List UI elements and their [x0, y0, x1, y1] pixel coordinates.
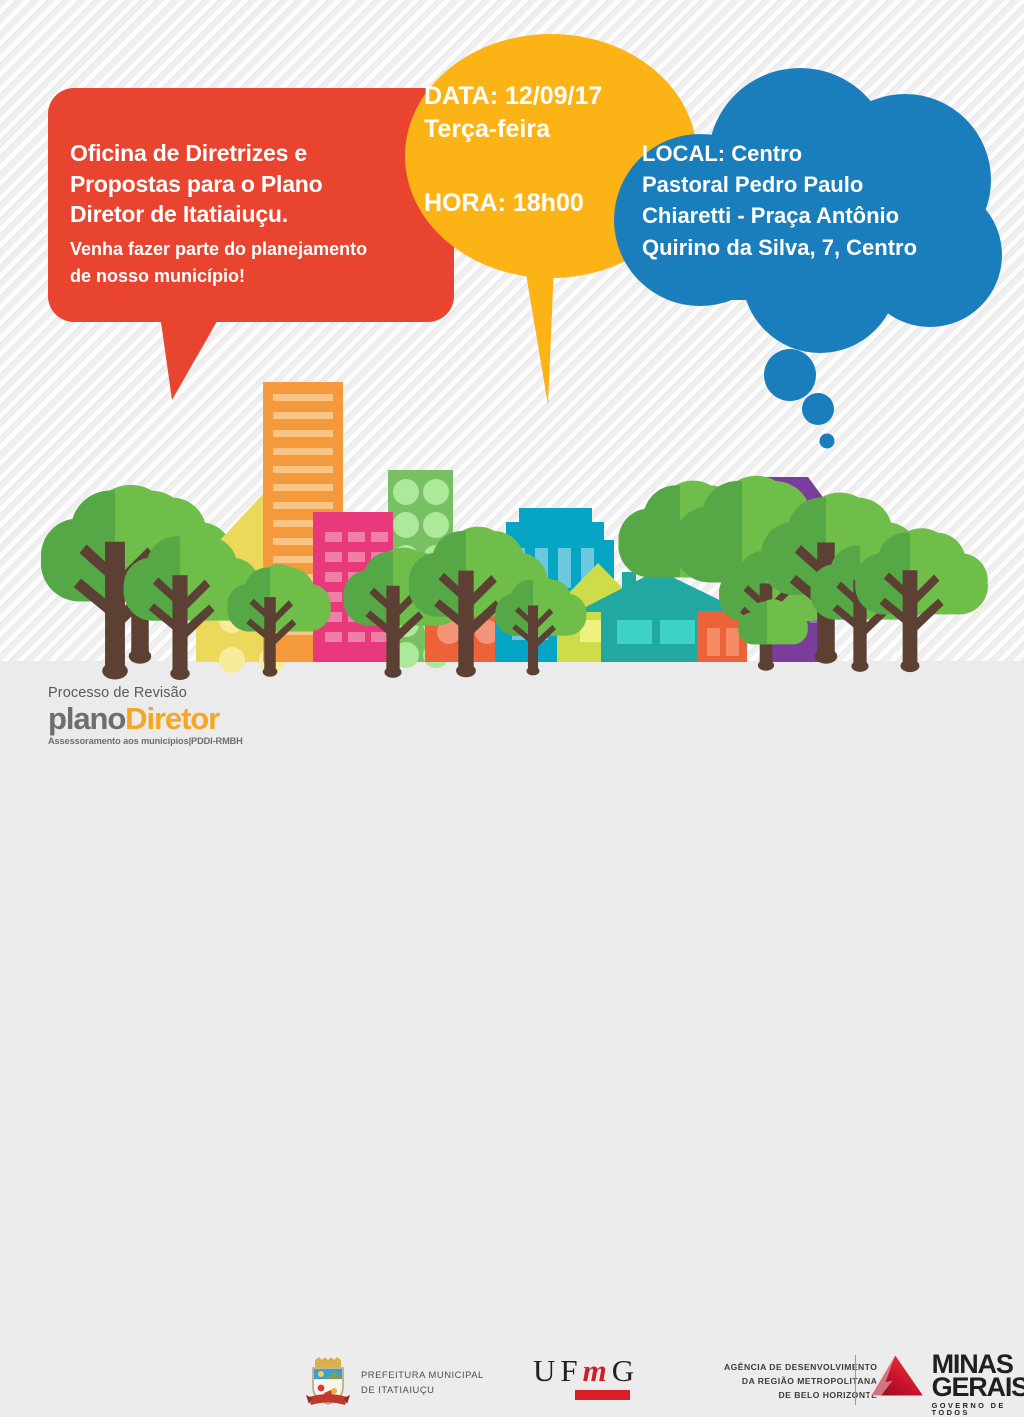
minas-gerais-slogan: GOVERNO DE TODOS: [932, 1403, 1024, 1416]
red-bubble-text: Oficina de Diretrizes e Propostas para o…: [70, 138, 450, 290]
footer-logos: Processo de Revisão planoDiretor Assesso…: [0, 661, 1024, 768]
ufmg-letter-g: G: [612, 1353, 639, 1388]
yellow-bubble-text: DATA: 12/09/17 Terça-feira HORA: 18h00: [424, 80, 639, 220]
plano-diretor-word-plano: plano: [48, 701, 125, 736]
minas-gerais-triangle-icon: [866, 1351, 925, 1401]
event-location-line-3: Chiaretti - Praça Antônio: [642, 200, 1002, 231]
red-headline-line-3: Diretor de Itatiaiuçu.: [70, 199, 450, 230]
plano-diretor-logo: Processo de Revisão planoDiretor Assesso…: [48, 685, 243, 746]
ufmg-letter-f: F: [560, 1353, 582, 1388]
event-time: HORA: 18h00: [424, 187, 639, 220]
event-location-line-4: Quirino da Silva, 7, Centro: [642, 232, 1002, 263]
prefeitura-logo: PREFEITURA MUNICIPAL DE ITATIAIUÇU: [305, 1357, 484, 1409]
footer-divider: [855, 1355, 856, 1405]
event-location-line-2: Pastoral Pedro Paulo: [642, 169, 1002, 200]
minas-gerais-word-2: GERAIS: [932, 1376, 1024, 1399]
red-subline-line-1: Venha fazer parte do planejamento: [70, 236, 450, 263]
ufmg-logo: UFmG: [533, 1355, 639, 1400]
ufmg-red-bar: [575, 1390, 630, 1400]
plano-diretor-tagline: Processo de Revisão: [48, 685, 243, 701]
prefeitura-line-1: PREFEITURA MUNICIPAL: [361, 1368, 484, 1383]
prefeitura-line-2: DE ITATIAIUÇU: [361, 1383, 484, 1398]
plano-diretor-subtitle: Assessoramento aos municípios|PDDI-RMBH: [48, 736, 243, 746]
red-headline-line-2: Propostas para o Plano: [70, 169, 450, 200]
ufmg-letter-m: m: [583, 1353, 612, 1388]
plano-diretor-word-diretor: Diretor: [125, 701, 219, 736]
red-headline-line-1: Oficina de Diretrizes e: [70, 138, 450, 169]
event-weekday: Terça-feira: [424, 113, 639, 146]
minas-gerais-logo: MINAS GERAIS GOVERNO DE TODOS: [866, 1351, 1024, 1416]
event-date: DATA: 12/09/17: [424, 80, 639, 113]
event-location-line-1: LOCAL: Centro: [642, 138, 1002, 169]
poster-canvas: Oficina de Diretrizes e Propostas para o…: [0, 0, 1024, 768]
coat-of-arms-icon: [305, 1357, 351, 1409]
blue-bubble-text: LOCAL: Centro Pastoral Pedro Paulo Chiar…: [642, 138, 1002, 263]
minas-gerais-word-1: MINAS: [932, 1353, 1024, 1376]
red-subline-line-2: de nosso município!: [70, 263, 450, 290]
ufmg-letter-u: U: [533, 1353, 560, 1388]
